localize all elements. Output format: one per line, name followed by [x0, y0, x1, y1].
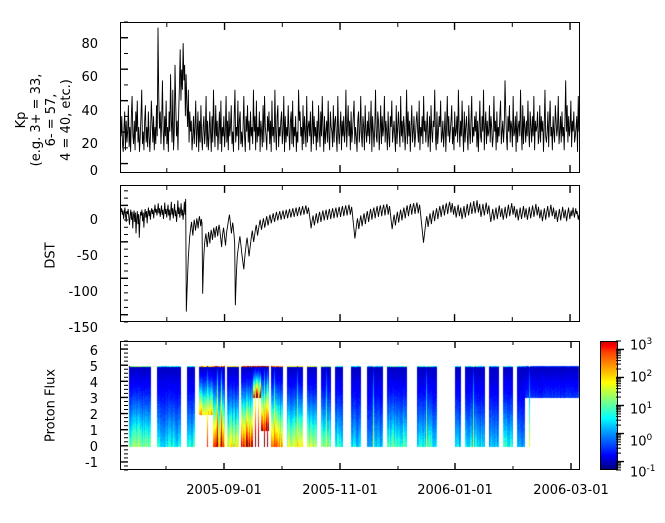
dst-ytick-0: 0: [48, 214, 98, 227]
kp-axis-label: Kp (e.g. 3+ = 33, 6- = 57, 4 = 40, etc.): [14, 45, 74, 195]
pf-ytick-m1: -1: [58, 457, 98, 470]
colorbar-label-1e2: 102: [630, 368, 652, 384]
colorbar-label-1e0: 100: [630, 432, 652, 448]
proton-flux-y-ticks: [104, 337, 128, 475]
kp-axis-label-line2: (e.g. 3+ = 33,: [29, 45, 44, 195]
cb-mantissa-1e0: 10: [630, 434, 647, 449]
kp-plot-area: [121, 23, 579, 172]
kp-axis-label-line3: 6- = 57,: [44, 45, 59, 195]
kp-axis-label-line4: 4 = 40, etc.): [59, 45, 74, 195]
colorbar-label-1e1: 101: [630, 400, 652, 416]
proton-flux-spectrogram: [121, 342, 581, 471]
kp-axis-label-line1: Kp: [14, 45, 29, 195]
pf-ytick-6: 6: [62, 345, 98, 358]
xtick-2006-03-01: 2006-03-01: [501, 484, 641, 497]
cb-mantissa-1em1: 10: [630, 465, 647, 480]
colorbar-label-1em1: 10-1: [630, 463, 656, 479]
cb-mantissa-1e3: 10: [630, 338, 647, 353]
dst-panel: [120, 185, 580, 322]
cb-mantissa-1e2: 10: [630, 370, 647, 385]
pf-ytick-0: 0: [62, 441, 98, 454]
pf-ytick-4: 4: [62, 377, 98, 390]
cb-exp-1e1: 1: [647, 401, 653, 411]
proton-flux-axis-label: Proton Flux: [44, 363, 59, 449]
colorbar-gradient: [601, 342, 617, 469]
cb-exp-1e3: 3: [647, 337, 653, 347]
pf-ytick-1: 1: [62, 425, 98, 438]
cb-exp-1e2: 2: [647, 369, 653, 379]
dst-y-ticks: [104, 181, 128, 327]
dst-ytick-m150: -150: [48, 322, 98, 335]
kp-panel: [120, 22, 580, 173]
pf-ytick-2: 2: [62, 409, 98, 422]
cb-exp-1em1: -1: [647, 464, 656, 474]
kp-y-ticks: [104, 18, 128, 178]
dst-plot-area: [121, 186, 579, 321]
dst-ytick-m100: -100: [48, 286, 98, 299]
colorbar-label-1e3: 103: [630, 336, 652, 352]
dst-axis-label: DST: [44, 236, 59, 276]
proton-flux-panel: [120, 341, 580, 470]
cb-exp-1e0: 0: [647, 433, 653, 443]
pf-ytick-3: 3: [62, 393, 98, 406]
pf-ytick-5: 5: [62, 361, 98, 374]
cb-mantissa-1e1: 10: [630, 402, 647, 417]
figure-root: 80 60 40 20 0 Kp (e.g. 3+ = 33, 6- = 57,…: [0, 0, 665, 523]
